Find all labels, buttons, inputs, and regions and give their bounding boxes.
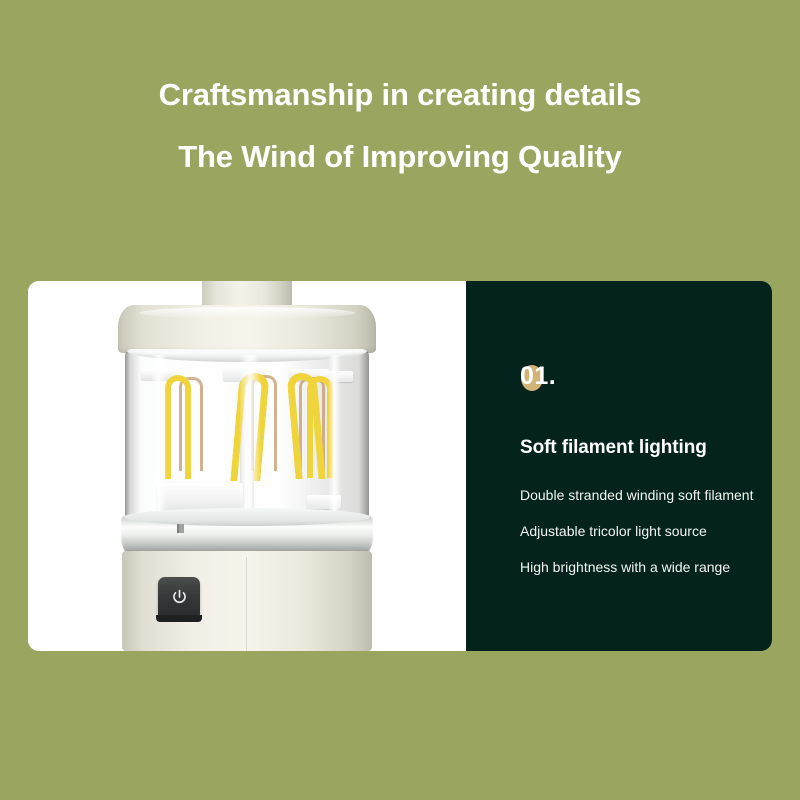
headline-line-1: Craftsmanship in creating details <box>0 74 800 116</box>
list-item: High brightness with a wide range <box>520 558 772 576</box>
feature-info-panel: 01. Soft filament lighting Double strand… <box>466 281 772 651</box>
lantern-top-cap <box>118 305 376 353</box>
feature-number-badge: 01. <box>520 359 772 393</box>
filament-assembly <box>139 363 355 509</box>
lantern-body <box>122 551 372 651</box>
list-item: Double stranded winding soft filament <box>520 486 772 504</box>
filament-clip <box>307 495 341 509</box>
ring-notch <box>177 524 184 533</box>
feature-card: 01. Soft filament lighting Double strand… <box>28 281 772 651</box>
globe-top-rim <box>127 349 367 362</box>
feature-number: 01. <box>520 362 556 390</box>
headline-line-2: The Wind of Improving Quality <box>0 136 800 178</box>
feature-bullet-list: Double stranded winding soft filament Ad… <box>520 486 772 576</box>
cob-filament <box>307 376 333 478</box>
product-photo-panel <box>28 281 466 651</box>
camping-lantern-product-image <box>97 281 397 651</box>
cob-filament <box>165 375 191 479</box>
body-seam <box>246 557 247 651</box>
power-icon <box>170 588 189 607</box>
feature-title: Soft filament lighting <box>520 437 772 459</box>
list-item: Adjustable tricolor light source <box>520 522 772 540</box>
headline-block: Craftsmanship in creating details The Wi… <box>0 74 800 178</box>
power-button[interactable] <box>158 577 200 617</box>
